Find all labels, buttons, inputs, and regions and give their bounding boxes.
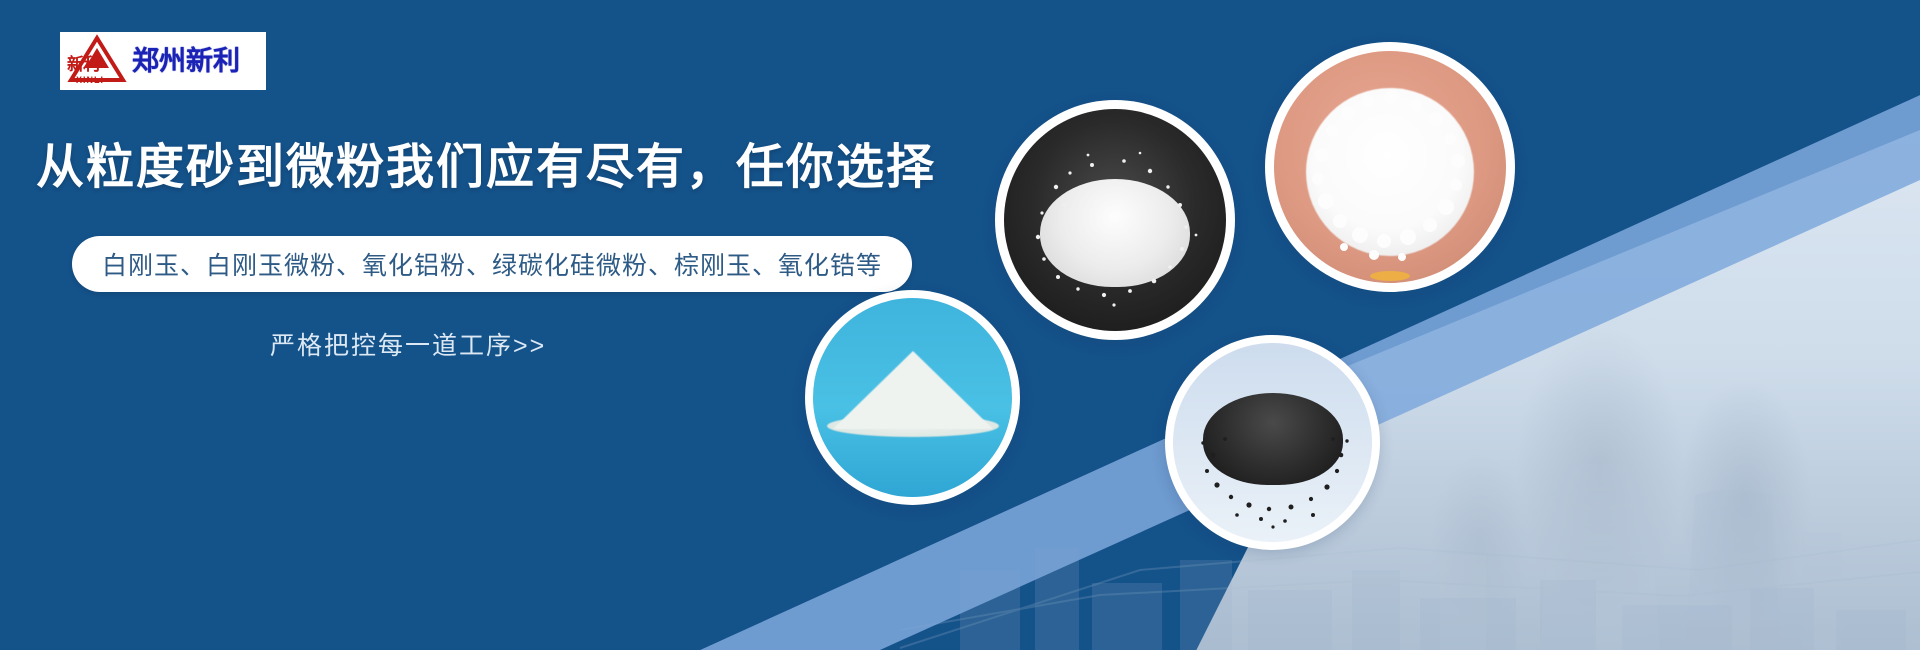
- product-list-text: 白刚玉、白刚玉微粉、氧化铝粉、绿碳化硅微粉、棕刚玉、氧化锆等: [102, 246, 882, 282]
- product-plate: [1173, 343, 1372, 542]
- powder-cone: [833, 351, 993, 429]
- headline: 从粒度砂到微粉我们应有尽有，任你选择: [36, 142, 936, 195]
- logo-company-name: 郑州新利: [132, 48, 240, 75]
- product-image-black-silicon-carbide-grain: [1165, 335, 1380, 550]
- grain-specks: [1004, 109, 1226, 331]
- logo-mark-text: 新利: [67, 56, 99, 73]
- product-list-pill: 白刚玉、白刚玉微粉、氧化铝粉、绿碳化硅微粉、棕刚玉、氧化锆等: [72, 236, 912, 292]
- promotional-banner: 新利 XINLI 郑州新利 从粒度砂到微粉我们应有尽有，任你选择 白刚玉、白刚玉…: [0, 0, 1920, 650]
- logo-triangle-mark: 新利 XINLI: [66, 34, 128, 88]
- product-plate: [1274, 51, 1506, 283]
- plate-rim-highlight: [1370, 271, 1410, 281]
- company-logo[interactable]: 新利 XINLI 郑州新利: [60, 32, 266, 90]
- product-image-white-fused-alumina-powder: [1265, 42, 1515, 292]
- product-plate: [813, 298, 1012, 497]
- product-plate: [1004, 109, 1226, 331]
- product-image-white-fused-alumina-grain: [995, 100, 1235, 340]
- logo-romanized-text: XINLI: [76, 76, 104, 85]
- cta-link[interactable]: 严格把控每一道工序>>: [270, 326, 546, 362]
- powder-clumps: [1274, 51, 1506, 283]
- grain-specks: [1173, 343, 1372, 542]
- product-image-alumina-powder-cone: [805, 290, 1020, 505]
